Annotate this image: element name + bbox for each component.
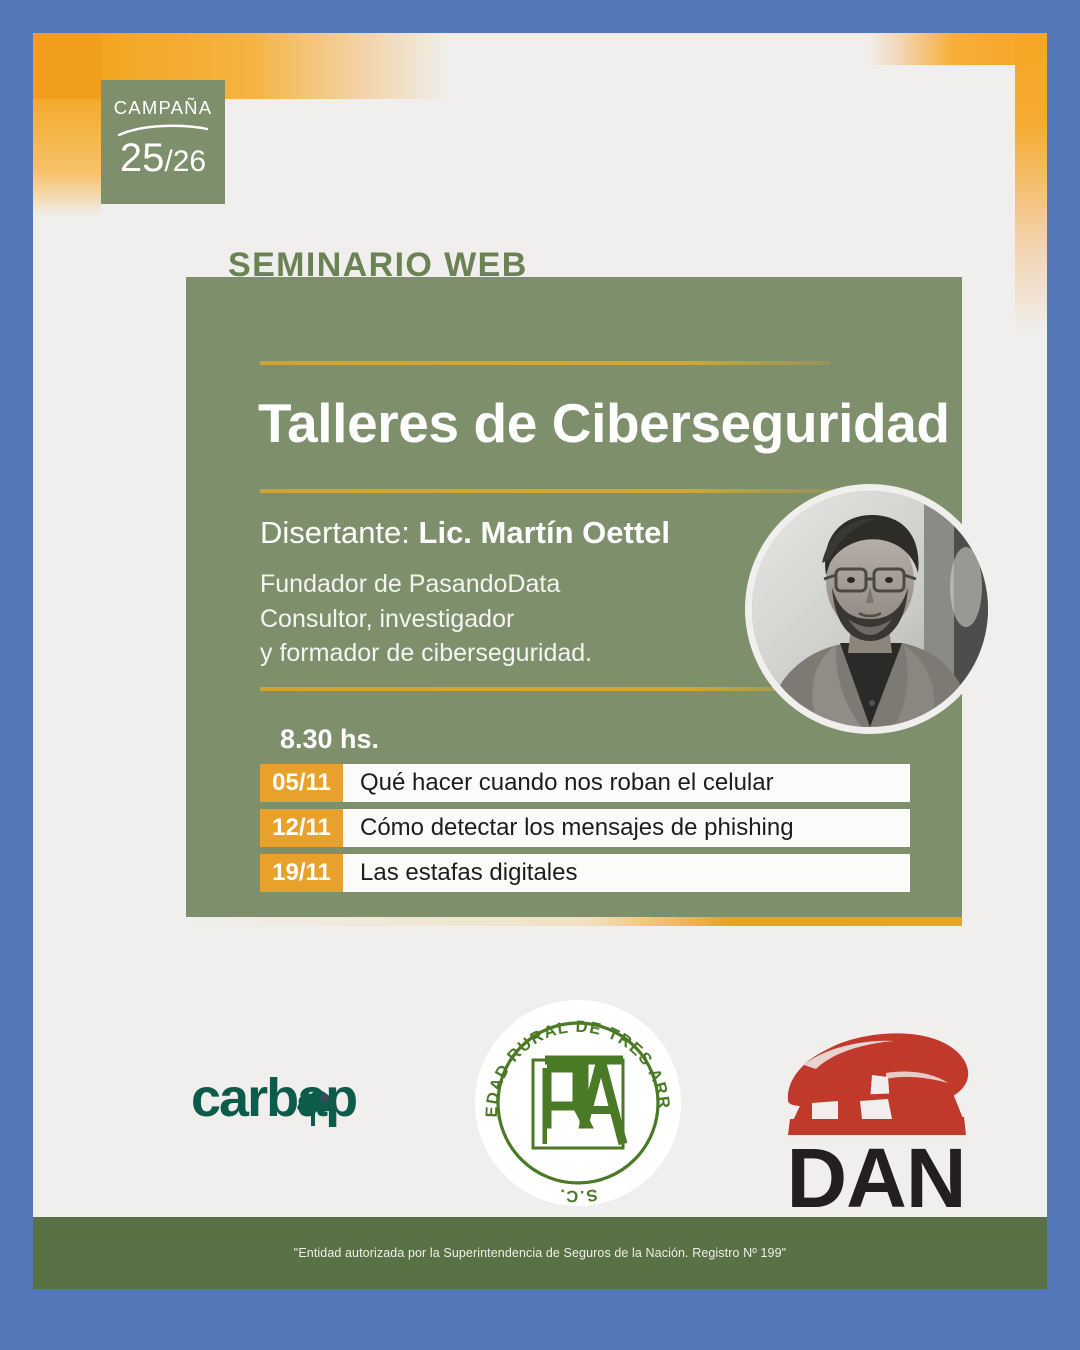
orange-bar-left-vertical	[33, 99, 101, 217]
speaker-name: Lic. Martín Oettel	[419, 515, 670, 550]
campaign-label: CAMPAÑA	[101, 99, 225, 118]
orange-bar-right-vertical	[1015, 33, 1047, 333]
session-topic: Cómo detectar los mensajes de phishing	[343, 809, 910, 847]
gold-rule-top	[260, 361, 830, 365]
gold-rule-bottom	[260, 687, 830, 691]
carbap-logo: carbap	[191, 1068, 421, 1135]
campaign-years: 25/26	[101, 138, 225, 178]
campaign-year-separator: /	[164, 145, 172, 178]
page-title: Talleres de Ciberseguridad	[258, 395, 958, 452]
campaign-year-end: 26	[173, 145, 206, 178]
bio-line: y formador de ciberseguridad.	[260, 636, 592, 671]
sociedad-rural-logo: SOCIEDAD RURAL DE TRES ARROYOS S.C.	[473, 998, 683, 1213]
dan-title: DAN	[787, 1131, 966, 1207]
dan-logo-mark: DAN	[768, 985, 988, 1207]
footer-disclaimer: "Entidad autorizada por la Superintenden…	[294, 1246, 786, 1260]
dan-logo: DAN Seguro de Granizo	[768, 985, 988, 1241]
poster-card: CAMPAÑA 25/26 SEMINARIO WEB Talleres de …	[33, 33, 1047, 1289]
bio-line: Fundador de PasandoData	[260, 567, 592, 602]
footer-bar: "Entidad autorizada por la Superintenden…	[33, 1217, 1047, 1289]
speaker-portrait-illustration	[752, 491, 988, 727]
speaker-bio: Fundador de PasandoData Consultor, inves…	[260, 567, 592, 671]
poster-canvas: CAMPAÑA 25/26 SEMINARIO WEB Talleres de …	[0, 0, 1080, 1350]
gold-rule-middle	[260, 489, 830, 493]
dan-tree-icon	[788, 1033, 968, 1135]
session-topic: Qué hacer cuando nos roban el celular	[343, 764, 910, 802]
speaker-prefix: Disertante:	[260, 515, 419, 550]
avatar-image	[752, 491, 988, 727]
bio-line: Consultor, investigador	[260, 602, 592, 637]
speaker-line: Disertante: Lic. Martín Oettel	[260, 515, 670, 551]
session-time: 8.30 hs.	[280, 724, 379, 755]
campaign-year-start: 25	[120, 136, 165, 180]
avatar	[745, 484, 995, 734]
svg-text:carbap: carbap	[191, 1068, 356, 1128]
sociedad-rural-seal: SOCIEDAD RURAL DE TRES ARROYOS S.C.	[473, 998, 683, 1208]
campaign-badge: CAMPAÑA 25/26	[101, 80, 225, 204]
session-date: 19/11	[260, 854, 343, 892]
session-topic: Las estafas digitales	[343, 854, 910, 892]
orange-block-top-left	[33, 33, 101, 99]
schedule-list: 05/11 Qué hacer cuando nos roban el celu…	[260, 764, 910, 899]
list-item: 12/11 Cómo detectar los mensajes de phis…	[260, 809, 910, 847]
session-date: 05/11	[260, 764, 343, 802]
session-date: 12/11	[260, 809, 343, 847]
list-item: 19/11 Las estafas digitales	[260, 854, 910, 892]
list-item: 05/11 Qué hacer cuando nos roban el celu…	[260, 764, 910, 802]
campaign-arc-divider	[117, 123, 209, 137]
sponsor-logos: carbap	[33, 973, 1047, 1223]
orange-accent-bar-under-panel	[186, 917, 962, 926]
carbap-wordmark: carbap	[191, 1068, 421, 1130]
